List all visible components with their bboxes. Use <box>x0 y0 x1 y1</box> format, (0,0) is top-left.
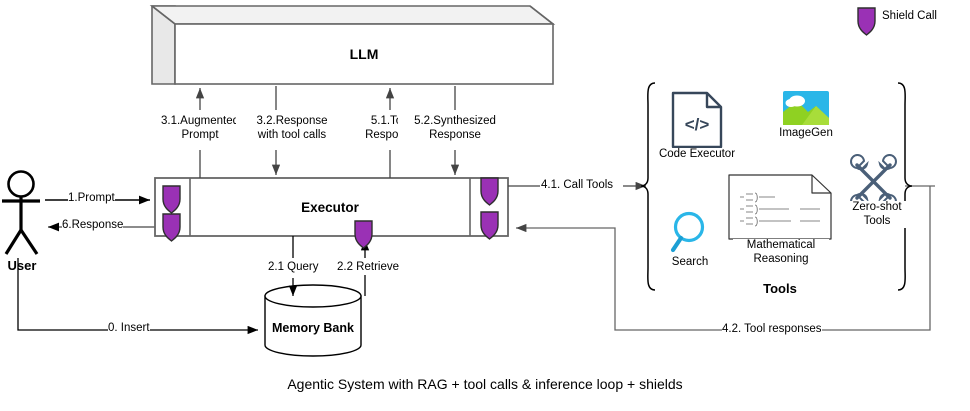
edge-label-tool-responses: 4.2. Tool responses <box>722 323 822 337</box>
synthesized-response-line1: 5.2.Synthesized <box>414 115 496 127</box>
shield-icon-memory <box>355 221 372 248</box>
augmented-prompt-line2: Prompt <box>181 129 218 141</box>
tool-label-imagegen: ImageGen <box>769 127 843 141</box>
edge-label-response: 6.Response <box>62 219 123 233</box>
tool-label-search: Search <box>662 256 718 270</box>
diagram-canvas: </> <box>0 0 970 411</box>
llm-label: LLM <box>175 46 553 62</box>
synthesized-response-line2: Response <box>429 129 481 141</box>
edge-label-retrieve: 2.2 Retrieve <box>337 261 399 275</box>
code-document-icon[interactable]: </> <box>673 93 721 147</box>
llm-box[interactable] <box>152 6 553 84</box>
zero-shot-line2: Tools <box>864 215 891 227</box>
edge-label-response-tool-calls: 3.2.Response with tool calls <box>236 115 348 142</box>
shield-icon-legend <box>858 8 875 35</box>
svg-text:</>: </> <box>685 115 710 134</box>
response-tool-calls-line1: 3.2.Response <box>257 115 328 127</box>
user-stick-figure[interactable] <box>2 172 40 255</box>
edge-label-synthesized-response: 5.2.Synthesized Response <box>398 115 512 142</box>
shield-icon-executor-out <box>163 214 180 241</box>
formula-document-icon[interactable] <box>729 175 831 239</box>
tools-group-label: Tools <box>700 281 860 296</box>
response-tool-calls-line2: with tool calls <box>258 129 326 141</box>
image-picture-icon[interactable] <box>783 91 829 125</box>
legend-label: Shield Call <box>882 10 937 24</box>
math-reasoning-line2: Reasoning <box>754 253 809 265</box>
math-reasoning-line1: Mathematical <box>747 239 815 251</box>
edge-label-query: 2.1 Query <box>268 261 319 275</box>
tools-left-brace <box>641 83 655 290</box>
executor-label: Executor <box>190 200 470 215</box>
magnifier-icon[interactable] <box>673 214 703 251</box>
zero-shot-line1: Zero-shot <box>852 201 901 213</box>
edge-label-call-tools: 4.1. Call Tools <box>541 179 613 193</box>
augmented-prompt-line1: 3.1.Augmented <box>161 115 239 127</box>
edge-insert <box>18 258 258 330</box>
tool-label-math-reasoning: Mathematical Reasoning <box>733 239 829 266</box>
memory-bank-label: Memory Bank <box>265 321 361 335</box>
edge-label-insert: 0. Insert <box>108 322 150 336</box>
edge-label-prompt: 1.Prompt <box>68 192 115 206</box>
tool-label-code-executor: Code Executor <box>650 148 744 162</box>
diagram-caption: Agentic System with RAG + tool calls & i… <box>0 376 970 392</box>
user-label: User <box>0 258 44 273</box>
tool-label-zero-shot-tools: Zero-shot Tools <box>840 201 914 228</box>
